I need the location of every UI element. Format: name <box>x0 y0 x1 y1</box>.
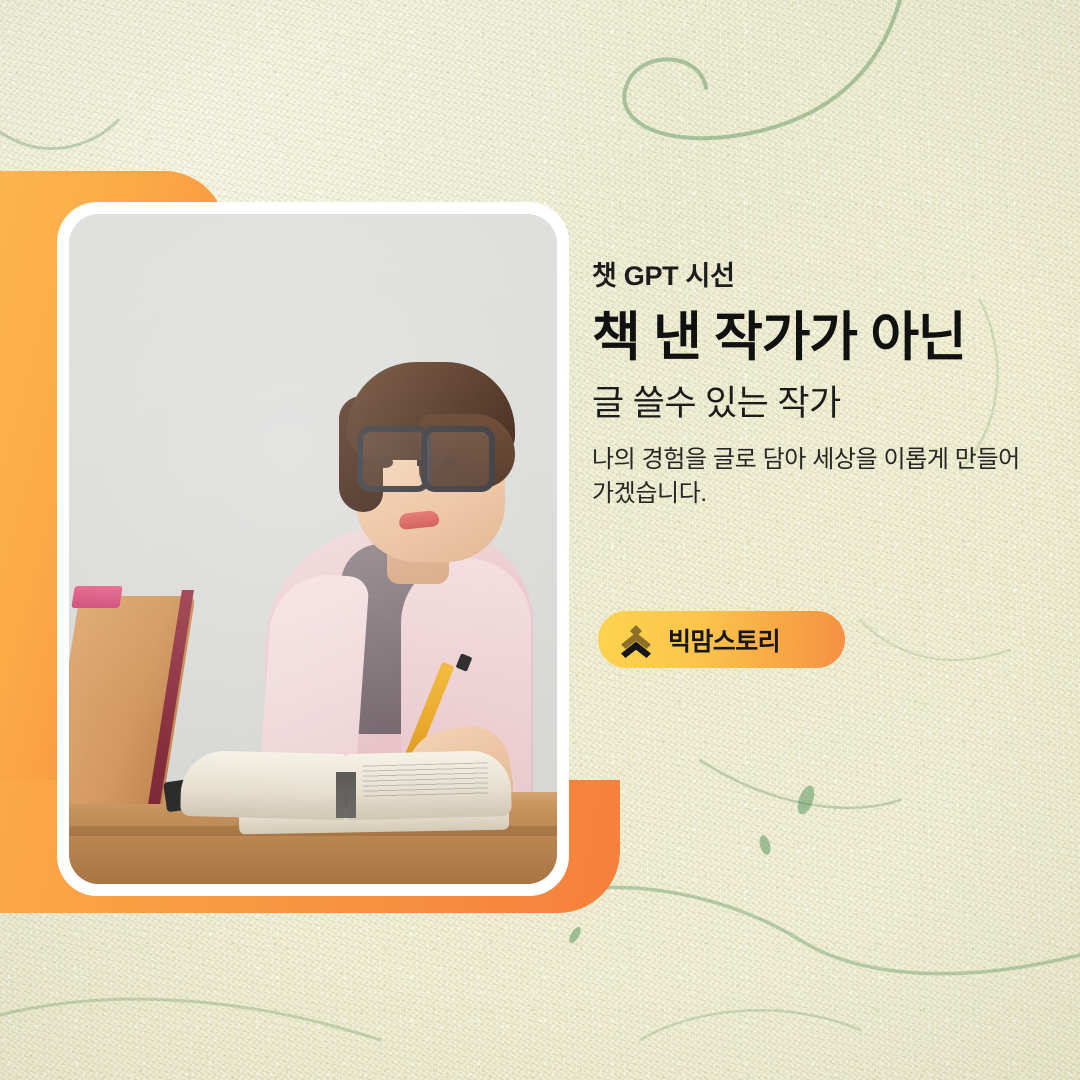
brand-badge-label: 빅맘스토리 <box>668 622 780 658</box>
body-text: 나의 경험을 글로 담아 세상을 이롭게 만들어 가겠습니다. <box>592 443 1032 511</box>
headline-text: 책 낸 작가가 아닌 <box>592 308 1044 367</box>
subheadline-text: 글 쓸수 있는 작가 <box>592 383 1044 425</box>
photo-card <box>57 202 569 896</box>
eyebrow-text: 챗 GPT 시선 <box>592 262 1044 292</box>
poster-canvas: 챗 GPT 시선 책 낸 작가가 아닌 글 쓸수 있는 작가 나의 경험을 글로… <box>0 0 1080 1080</box>
photo-light-overlay <box>69 214 557 884</box>
chevron-stack-icon <box>618 622 654 658</box>
photo-image <box>69 214 557 884</box>
text-column: 챗 GPT 시선 책 낸 작가가 아닌 글 쓸수 있는 작가 나의 경험을 글로… <box>592 262 1044 511</box>
brand-badge[interactable]: 빅맘스토리 <box>598 611 845 668</box>
